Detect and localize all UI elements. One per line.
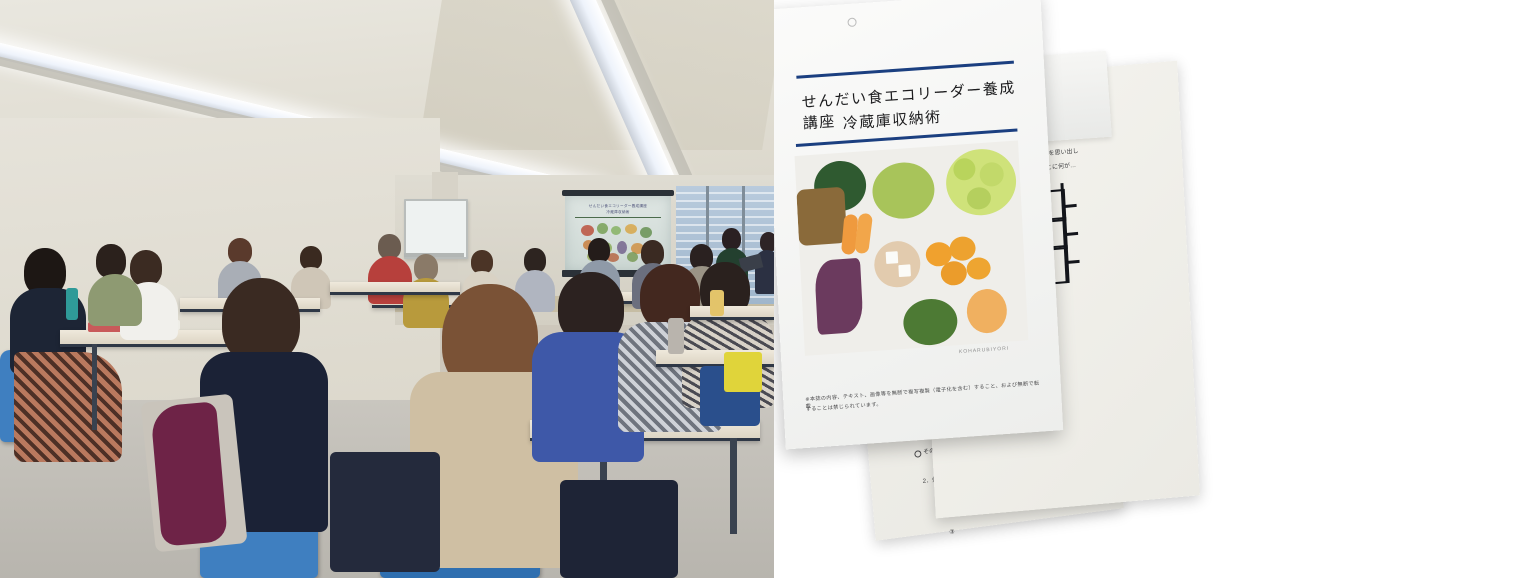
worksheet-back-q2-item-2: ③ bbox=[949, 528, 955, 536]
screenshot-root: せんだい食エコリーダー養成講座 冷蔵庫収納術 bbox=[0, 0, 1536, 578]
classroom-photo: せんだい食エコリーダー養成講座 冷蔵庫収納術 bbox=[0, 0, 774, 578]
radio-option-icon[interactable] bbox=[914, 450, 922, 458]
booklet-photo-credit: KOHARUBIYORI bbox=[959, 346, 1010, 356]
booklet-cover-photo bbox=[795, 140, 1029, 355]
tea-bottle bbox=[710, 290, 724, 316]
water-bottle bbox=[66, 288, 78, 320]
slide-title-line2: 冷蔵庫収納術 bbox=[573, 210, 663, 215]
desk-leg bbox=[730, 438, 737, 534]
staple-mark-icon bbox=[847, 17, 856, 27]
slide-title-line1: せんだい食エコリーダー養成講座 bbox=[573, 204, 663, 209]
bag bbox=[560, 480, 678, 578]
desk bbox=[330, 282, 460, 295]
thermos-bottle bbox=[668, 318, 684, 354]
whiteboard bbox=[404, 199, 468, 259]
bag bbox=[330, 452, 440, 572]
booklet-cover: せんだい食エコリーダー養成講座 冷蔵庫収納術 bbox=[774, 0, 1063, 449]
desk-leg bbox=[92, 344, 97, 430]
bag bbox=[724, 352, 762, 392]
title-rule-top bbox=[796, 61, 1014, 79]
slide-rule bbox=[575, 217, 661, 218]
documents-photo: せんだい食エコリ 【1. 私の冷蔵庫を改善する】 講座で学んだ収納のコツを活か … bbox=[774, 0, 1536, 578]
desk bbox=[690, 306, 774, 320]
scarf-on-chair bbox=[150, 401, 228, 546]
